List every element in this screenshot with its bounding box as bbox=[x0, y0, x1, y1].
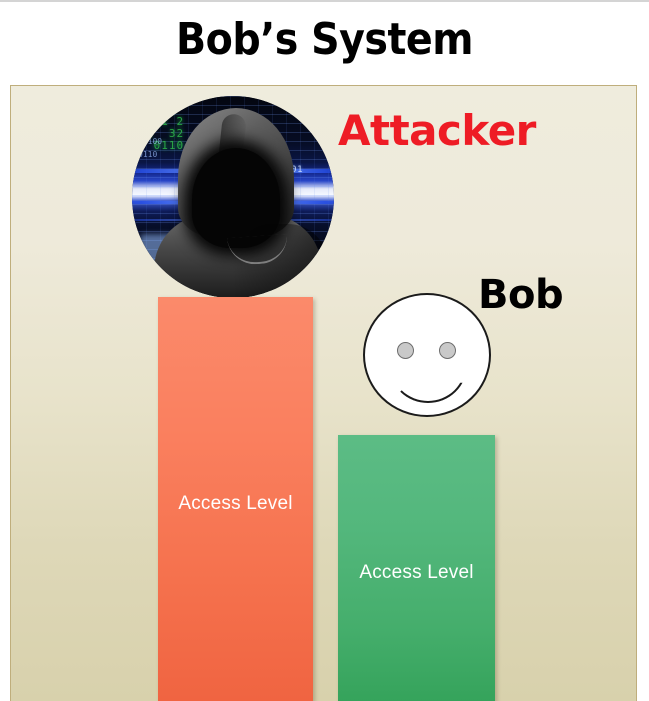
attacker-access-bar-label: Access Level bbox=[158, 493, 313, 515]
smiley-face-icon bbox=[363, 293, 491, 417]
smiley-right-eye-icon bbox=[439, 342, 456, 359]
attacker-access-bar: Access Level bbox=[158, 297, 313, 701]
smiley-mouth-icon bbox=[389, 365, 467, 403]
attacker-label: Attacker bbox=[338, 106, 536, 156]
bob-access-bar: Access Level bbox=[338, 435, 495, 701]
smiley-left-eye-icon bbox=[397, 342, 414, 359]
bob-access-bar-label: Access Level bbox=[338, 562, 495, 584]
window-top-edge bbox=[0, 0, 649, 2]
page-title: Bob’s System bbox=[0, 12, 649, 68]
slide-content-panel: 10 1 01 2 1 32 0110 0101 1100 0110 10 01… bbox=[10, 85, 637, 701]
hooded-attacker-photo: 10 1 01 2 1 32 0110 0101 1100 0110 10 01… bbox=[132, 96, 334, 298]
bob-label: Bob bbox=[478, 271, 563, 319]
